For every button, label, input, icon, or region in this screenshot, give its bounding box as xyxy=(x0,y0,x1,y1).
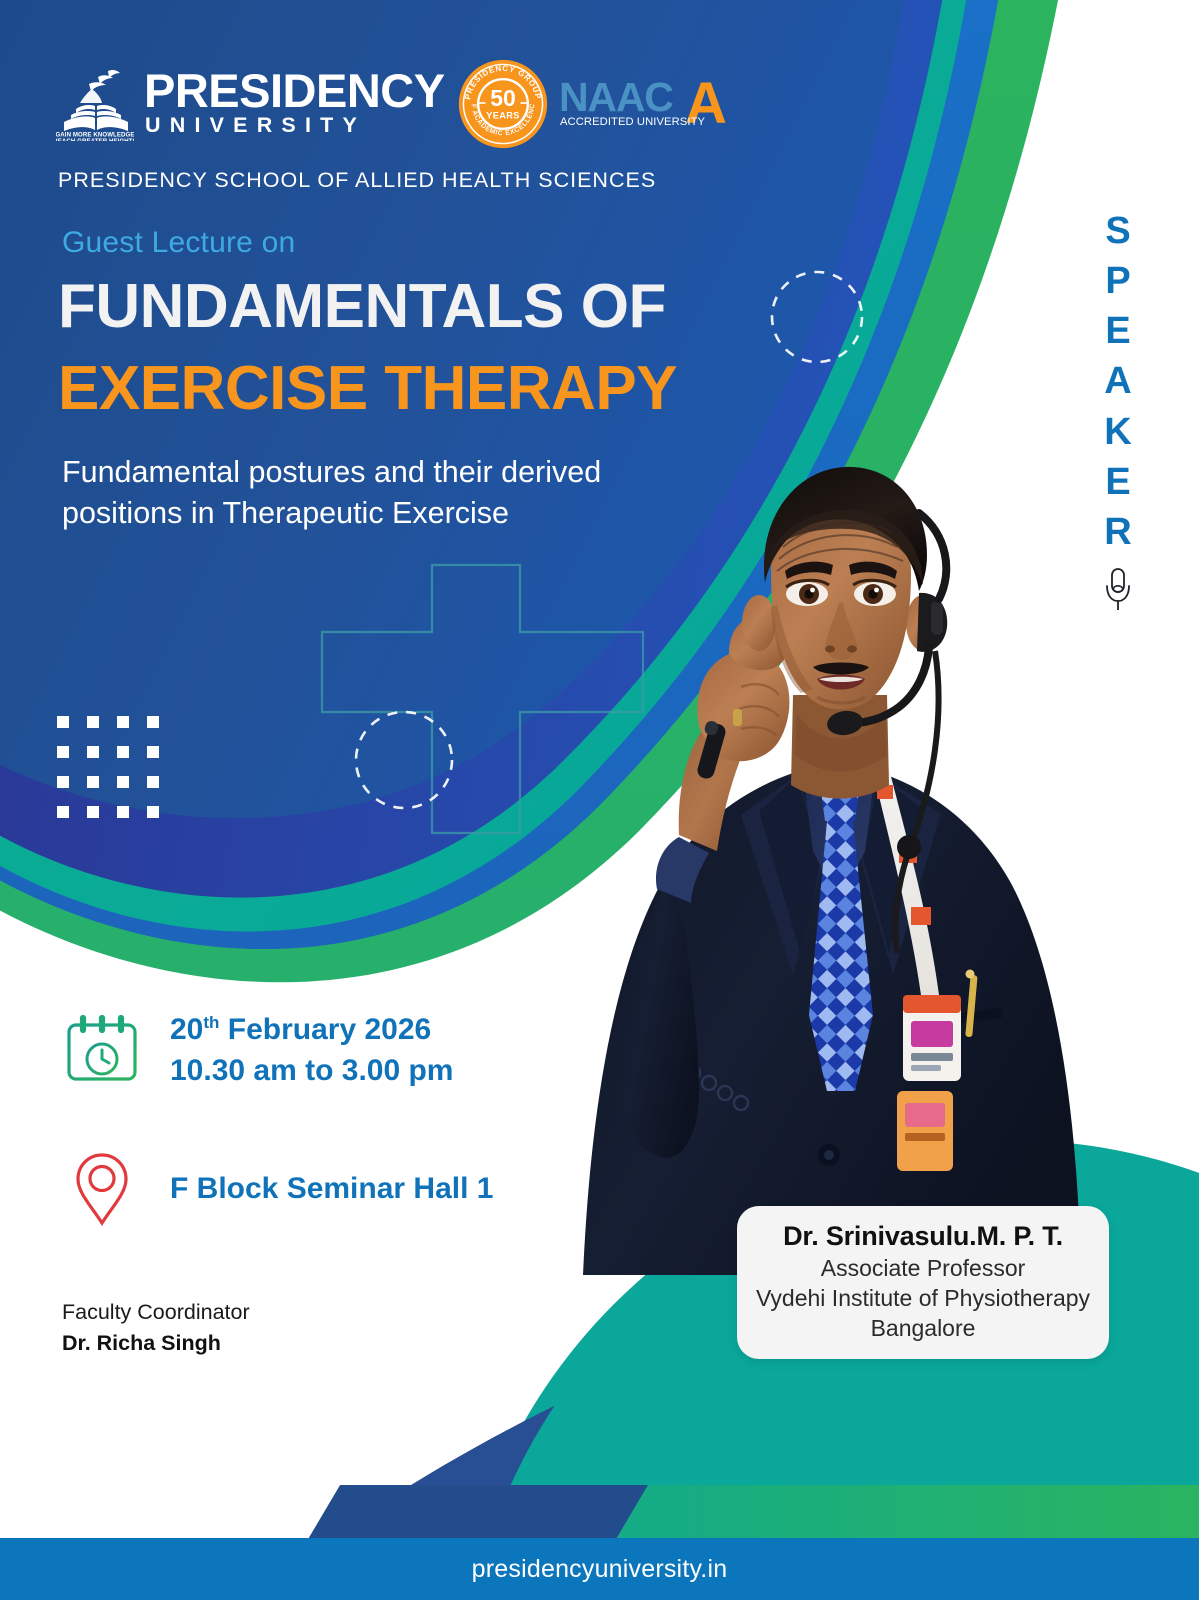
speaker-name: Dr. Srinivasulu.M. P. T. xyxy=(755,1220,1091,1254)
speaker-affiliation: Vydehi Institute of Physiotherapy xyxy=(755,1284,1091,1314)
location-pin-icon-wrap xyxy=(60,1149,144,1229)
event-date-ordinal: th xyxy=(203,1013,219,1032)
naac-subtitle: ACCREDITED UNIVERSITY xyxy=(560,116,706,128)
badge-years-label: YEARS xyxy=(486,111,520,121)
speaker-letter-e2: E xyxy=(1105,457,1130,507)
university-wordmark: PRESIDENCY UNIVERSITY xyxy=(144,69,445,139)
university-name-line1: PRESIDENCY xyxy=(144,69,445,112)
venue-row: F Block Seminar Hall 1 xyxy=(60,1149,493,1229)
naac-accreditation-logo: NAAC A ACCREDITED UNIVERSITY xyxy=(559,67,739,141)
faculty-coordinator-block: Faculty Coordinator Dr. Richa Singh xyxy=(62,1297,250,1359)
venue-text: F Block Seminar Hall 1 xyxy=(170,1169,493,1210)
event-details-block: 20th February 2026 10.30 am to 3.00 pm F… xyxy=(60,1010,493,1229)
faculty-coordinator-name: Dr. Richa Singh xyxy=(62,1328,250,1359)
speaker-letter-s: S xyxy=(1105,206,1130,256)
microphone-icon-wrap xyxy=(1101,567,1135,618)
speaker-info-card: Dr. Srinivasulu.M. P. T. Associate Profe… xyxy=(737,1206,1109,1359)
speaker-letter-a: A xyxy=(1104,356,1131,406)
event-date-rest: February 2026 xyxy=(219,1013,431,1046)
faculty-coordinator-label: Faculty Coordinator xyxy=(62,1297,250,1328)
microphone-icon xyxy=(1101,567,1135,613)
fifty-years-badge: PRESIDENCY GROUP OF ACADEMIC EXCELLENCE … xyxy=(457,58,549,150)
location-pin-icon xyxy=(71,1149,133,1229)
event-venue: F Block Seminar Hall 1 xyxy=(170,1169,493,1210)
speaker-city: Bangalore xyxy=(755,1314,1091,1344)
event-kicker: Guest Lecture on xyxy=(62,226,295,260)
university-logo-row: GAIN MORE KNOWLEDGE REACH GREATER HEIGHT… xyxy=(56,58,739,150)
event-title-line1: FUNDAMENTALS OF xyxy=(58,276,666,338)
book-birds-emblem: GAIN MORE KNOWLEDGE REACH GREATER HEIGHT… xyxy=(56,67,134,141)
event-title-line2: EXERCISE THERAPY xyxy=(58,358,677,420)
speaker-letter-k: K xyxy=(1104,407,1131,457)
speaker-letter-e1: E xyxy=(1105,306,1130,356)
footer-bar: presidencyuniversity.in xyxy=(0,1538,1199,1600)
naac-wordmark: NAAC xyxy=(559,74,673,120)
website-url[interactable]: presidencyuniversity.in xyxy=(472,1555,728,1584)
calendar-clock-icon-wrap xyxy=(60,1011,144,1091)
calendar-clock-icon xyxy=(62,1011,142,1091)
date-time-text: 20th February 2026 10.30 am to 3.00 pm xyxy=(170,1010,453,1091)
event-date-day: 20 xyxy=(170,1013,203,1046)
emblem-tagline-line2: REACH GREATER HEIGHTS xyxy=(56,138,134,141)
event-time: 10.30 am to 3.00 pm xyxy=(170,1051,453,1092)
event-subtitle: Fundamental postures and their derived p… xyxy=(62,452,632,533)
poster-canvas: GAIN MORE KNOWLEDGE REACH GREATER HEIGHT… xyxy=(0,0,1199,1600)
speaker-letter-p: P xyxy=(1105,256,1130,306)
school-name: PRESIDENCY SCHOOL OF ALLIED HEALTH SCIEN… xyxy=(58,168,656,193)
badge-number: 50 xyxy=(490,85,516,111)
speaker-role: Associate Professor xyxy=(755,1254,1091,1284)
date-time-row: 20th February 2026 10.30 am to 3.00 pm xyxy=(60,1010,493,1091)
university-name-line2: UNIVERSITY xyxy=(145,112,445,139)
speaker-photo xyxy=(441,455,1141,1275)
speaker-vertical-label: S P E A K E R xyxy=(1101,206,1135,618)
event-date: 20th February 2026 xyxy=(170,1010,453,1051)
speaker-letter-r: R xyxy=(1104,507,1131,557)
